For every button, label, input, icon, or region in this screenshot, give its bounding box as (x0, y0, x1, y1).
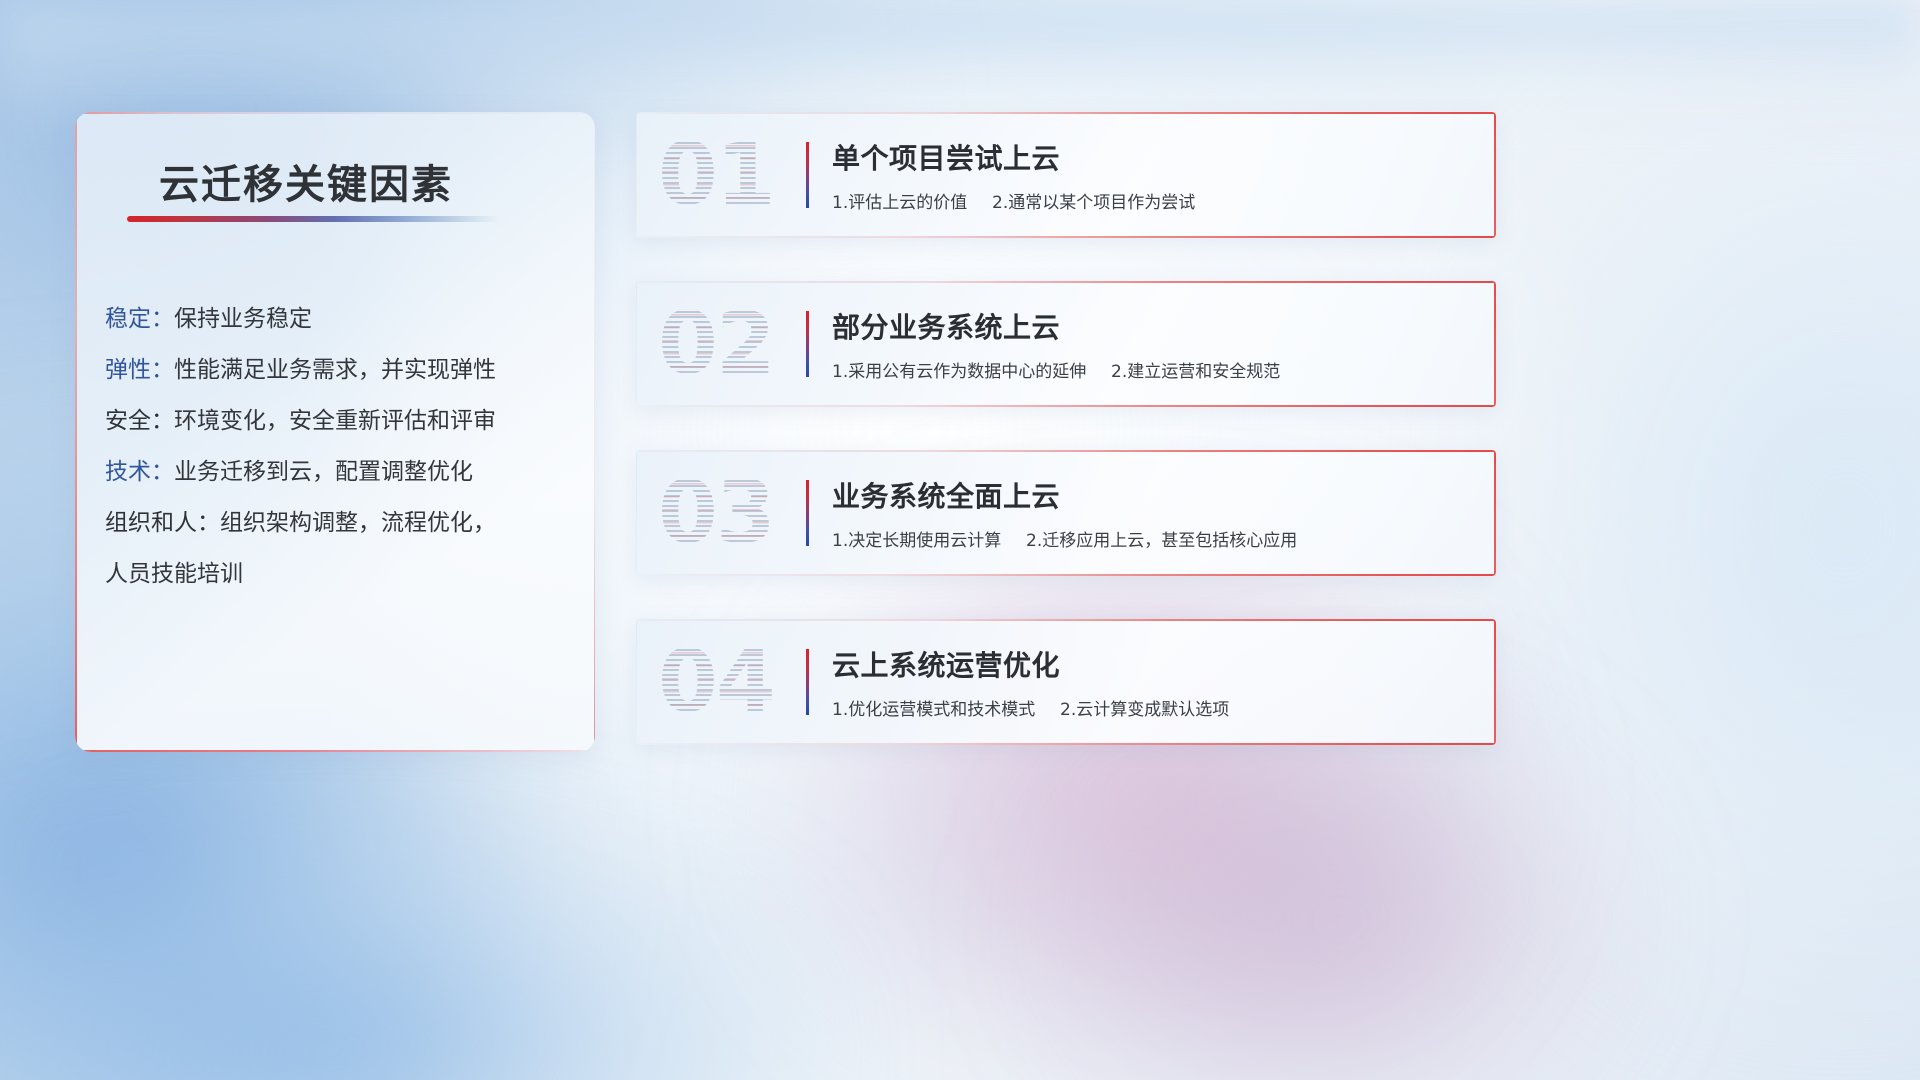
stage-card-02[interactable]: 02 02 部分业务系统上云 1.采用公有云作为数据中心的延伸 2.建立运营和安… (636, 281, 1496, 407)
card-border-left (636, 281, 637, 407)
key-factors-panel: 云迁移关键因素 稳定： 保持业务稳定 弹性： 性能满足业务需求，并实现弹性 安全… (75, 112, 595, 752)
factor-row-continuation: 人员技能培训 (105, 563, 577, 586)
card-border-right (1494, 281, 1496, 407)
card-border-bottom (636, 236, 1496, 238)
card-description: 1.采用公有云作为数据中心的延伸 2.建立运营和安全规范 (832, 357, 1476, 382)
card-border-right (1494, 450, 1496, 576)
card-border-bottom (636, 405, 1496, 407)
card-step-number: 04 (658, 639, 774, 725)
card-description-item-1: 1.评估上云的价值 (832, 193, 967, 213)
factor-list: 稳定： 保持业务稳定 弹性： 性能满足业务需求，并实现弹性 安全： 环境变化，安… (105, 308, 577, 586)
factor-text: 环境变化，安全重新评估和评审 (174, 410, 496, 433)
background-top-strip (0, 0, 1920, 130)
stage-card-list: 01 01 单个项目尝试上云 1.评估上云的价值 2.通常以某个项目作为尝试 0… (636, 112, 1496, 788)
card-accent-bar (806, 480, 809, 546)
panel-border-right (594, 112, 596, 752)
stage-card-03[interactable]: 03 03 业务系统全面上云 1.决定长期使用云计算 2.迁移应用上云，甚至包括… (636, 450, 1496, 576)
card-border-bottom (636, 574, 1496, 576)
card-title: 部分业务系统上云 (832, 306, 1476, 346)
card-content: 单个项目尝试上云 1.评估上云的价值 2.通常以某个项目作为尝试 (832, 137, 1476, 213)
factor-label: 安全： (105, 410, 174, 433)
card-border-top (636, 281, 1496, 283)
card-border-left (636, 619, 637, 745)
card-title: 云上系统运营优化 (832, 644, 1476, 684)
factor-row: 技术： 业务迁移到云，配置调整优化 (105, 461, 577, 484)
card-step-number: 03 (658, 470, 774, 556)
factor-text: 业务迁移到云，配置调整优化 (174, 461, 473, 484)
title-underline-accent (127, 216, 499, 222)
background-blob-bottom (0, 840, 820, 1080)
card-border-right (1494, 112, 1496, 238)
card-description: 1.评估上云的价值 2.通常以某个项目作为尝试 (832, 188, 1476, 213)
card-description-item-2: 2.云计算变成默认选项 (1060, 700, 1229, 720)
card-accent-bar (806, 311, 809, 377)
card-description-item-2: 2.迁移应用上云，甚至包括核心应用 (1026, 531, 1297, 551)
factor-label: 稳定： (105, 308, 174, 331)
card-content: 云上系统运营优化 1.优化运营模式和技术模式 2.云计算变成默认选项 (832, 644, 1476, 720)
card-title: 业务系统全面上云 (832, 475, 1476, 515)
card-title: 单个项目尝试上云 (832, 137, 1476, 177)
factor-text: 性能满足业务需求，并实现弹性 (174, 359, 496, 382)
card-border-bottom (636, 743, 1496, 745)
card-border-right (1494, 619, 1496, 745)
stage-card-04[interactable]: 04 04 云上系统运营优化 1.优化运营模式和技术模式 2.云计算变成默认选项 (636, 619, 1496, 745)
card-step-number: 01 (658, 132, 774, 218)
card-description: 1.决定长期使用云计算 2.迁移应用上云，甚至包括核心应用 (832, 526, 1476, 551)
factor-text: 组织架构调整，流程优化， (220, 512, 496, 535)
card-border-top (636, 619, 1496, 621)
card-border-left (636, 450, 637, 576)
card-description: 1.优化运营模式和技术模式 2.云计算变成默认选项 (832, 695, 1476, 720)
card-content: 部分业务系统上云 1.采用公有云作为数据中心的延伸 2.建立运营和安全规范 (832, 306, 1476, 382)
factor-label: 弹性： (105, 359, 174, 382)
card-content: 业务系统全面上云 1.决定长期使用云计算 2.迁移应用上云，甚至包括核心应用 (832, 475, 1476, 551)
factor-text: 人员技能培训 (105, 563, 243, 586)
panel-border-bottom (75, 750, 595, 752)
card-step-number: 02 (658, 301, 774, 387)
page-title: 云迁移关键因素 (159, 152, 453, 210)
factor-label: 技术： (105, 461, 174, 484)
card-description-item-1: 1.优化运营模式和技术模式 (832, 700, 1035, 720)
card-description-item-1: 1.决定长期使用云计算 (832, 531, 1001, 551)
factor-row: 稳定： 保持业务稳定 (105, 308, 577, 331)
factor-label: 组织和人： (105, 512, 220, 535)
stage-card-01[interactable]: 01 01 单个项目尝试上云 1.评估上云的价值 2.通常以某个项目作为尝试 (636, 112, 1496, 238)
card-accent-bar (806, 649, 809, 715)
factor-text: 保持业务稳定 (174, 308, 312, 331)
card-border-left (636, 112, 637, 238)
card-description-item-1: 1.采用公有云作为数据中心的延伸 (832, 362, 1086, 382)
card-description-item-2: 2.通常以某个项目作为尝试 (992, 193, 1195, 213)
factor-row: 组织和人： 组织架构调整，流程优化， (105, 512, 577, 535)
panel-border-top (75, 112, 595, 114)
card-border-top (636, 112, 1496, 114)
card-description-item-2: 2.建立运营和安全规范 (1111, 362, 1280, 382)
factor-row: 安全： 环境变化，安全重新评估和评审 (105, 410, 577, 433)
factor-row: 弹性： 性能满足业务需求，并实现弹性 (105, 359, 577, 382)
card-border-top (636, 450, 1496, 452)
card-accent-bar (806, 142, 809, 208)
panel-border-left (75, 112, 77, 752)
